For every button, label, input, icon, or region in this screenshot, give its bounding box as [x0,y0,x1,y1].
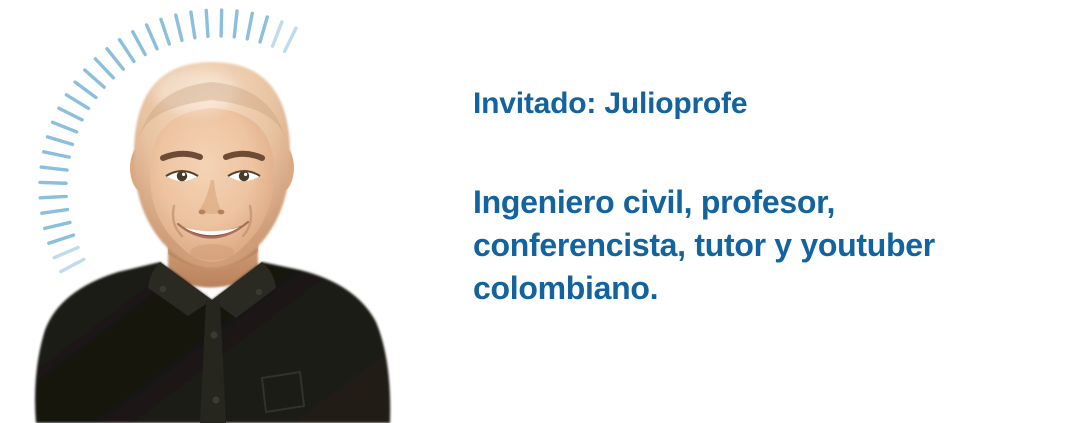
text-column: Invitado: Julioprofe Ingeniero civil, pr… [473,86,1033,310]
shirt-button-top [210,331,217,338]
portrait-illustration [0,0,420,423]
chin-shadow [190,244,234,260]
collar-button-right [256,289,262,295]
nostril-right [218,210,225,215]
guest-description: Ingeniero civil, profesor, conferencista… [473,122,983,310]
guest-intro-slide: Invitado: Julioprofe Ingeniero civil, pr… [0,0,1080,423]
eye-right-catchlight [244,173,247,176]
shirt-button-bottom [212,396,219,403]
portrait-photo [0,0,420,423]
pupil-left [177,171,187,181]
pupil-right [239,171,249,181]
eye-left-catchlight [182,173,185,176]
guest-heading: Invitado: Julioprofe [473,86,1033,122]
nostril-left [199,210,206,215]
collar-button-left [160,286,166,292]
